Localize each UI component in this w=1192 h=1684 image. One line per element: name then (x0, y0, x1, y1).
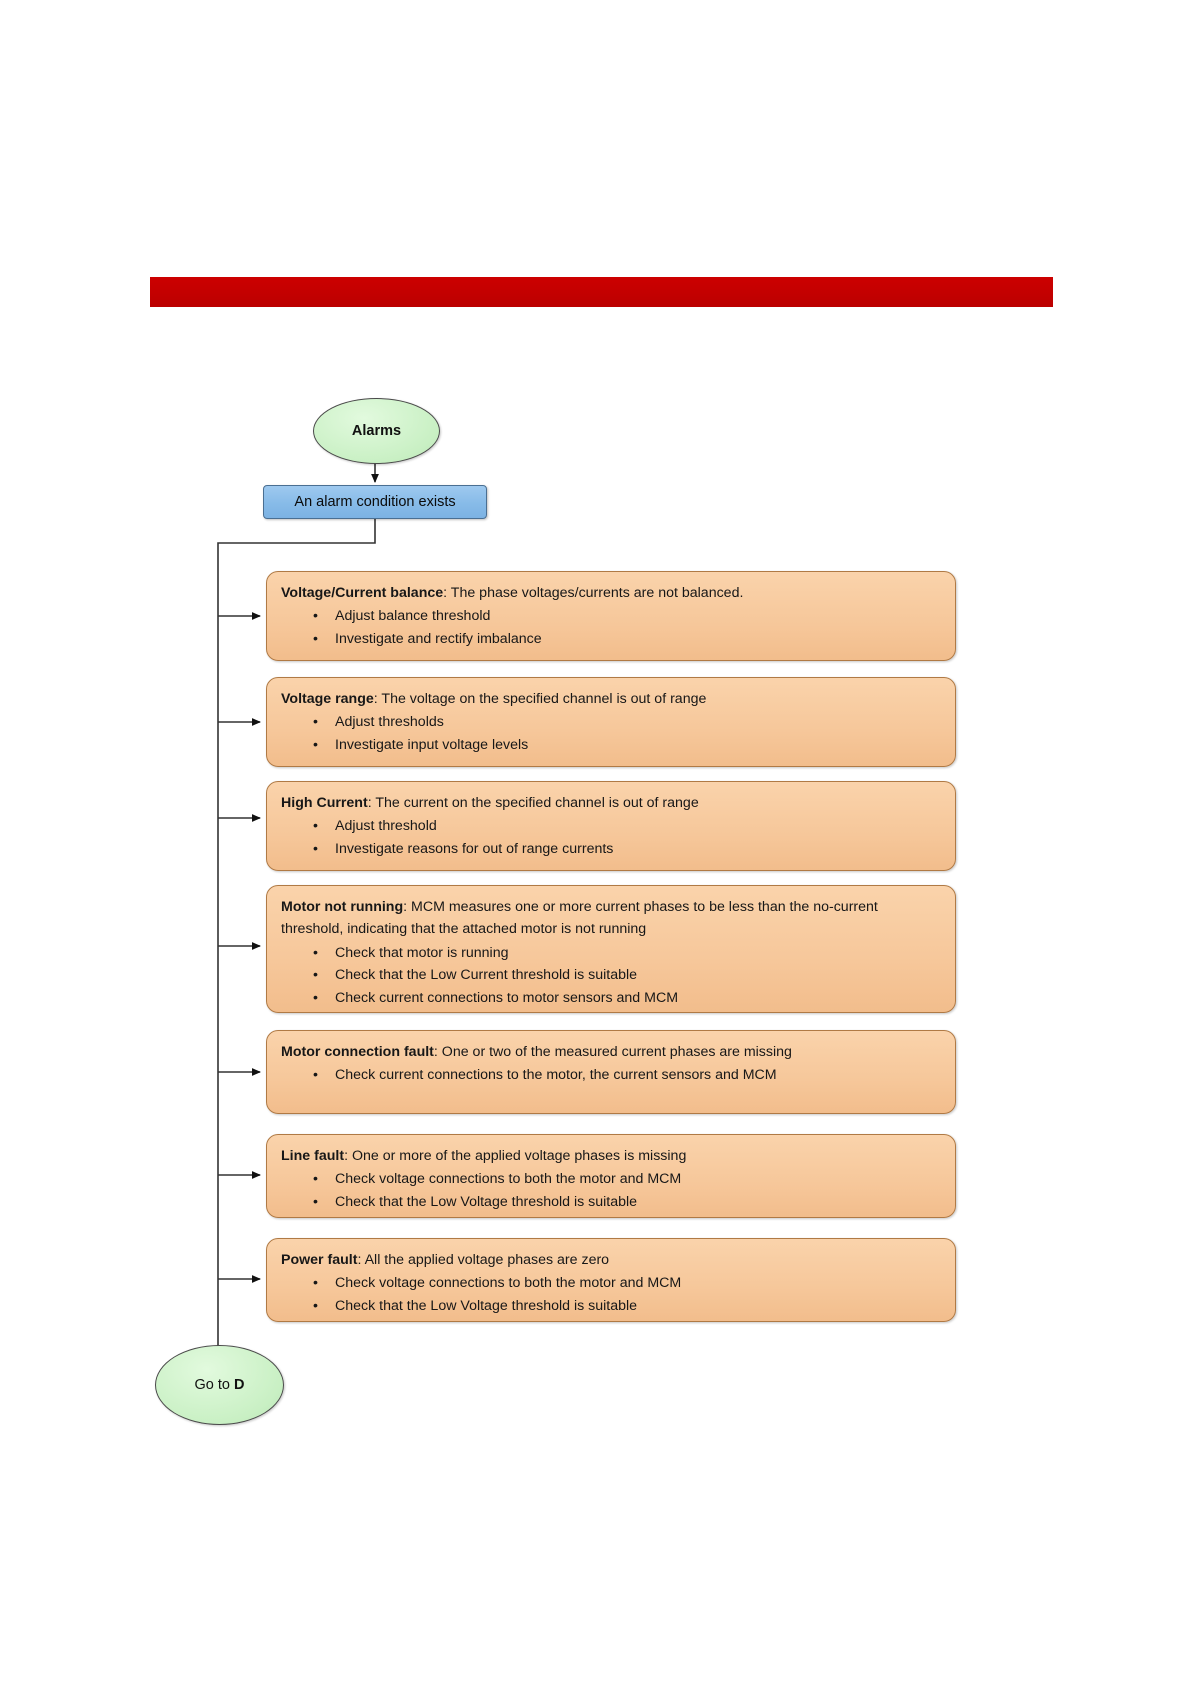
end-node-go-to-d[interactable]: Go to D (155, 1345, 284, 1425)
list-item: •Check voltage connections to both the m… (335, 1168, 941, 1190)
bullet-icon: • (313, 1295, 318, 1317)
bullet-icon: • (313, 987, 318, 1009)
list-item: •Check that the Low Voltage threshold is… (335, 1295, 941, 1317)
alarm-label: Line fault (281, 1148, 344, 1164)
alarm-separator: : (344, 1148, 352, 1164)
alarm-separator: : (357, 1252, 364, 1268)
end-node-label: Go to D (195, 1377, 245, 1393)
bullet-icon: • (313, 964, 318, 986)
alarm-description: The current on the specified channel is … (375, 795, 698, 811)
alarm-box-motor-not-running[interactable]: Motor not running: MCM measures one or m… (266, 885, 956, 1013)
alarm-bullet-list: •Check voltage connections to both the m… (281, 1168, 941, 1213)
alarm-separator: : (443, 585, 451, 601)
alarm-title-line: Power fault: All the applied voltage pha… (281, 1249, 941, 1271)
bullet-icon: • (313, 605, 318, 627)
bullet-text: Check current connections to motor senso… (335, 990, 678, 1006)
bullet-text: Investigate and rectify imbalance (335, 631, 542, 647)
bullet-icon: • (313, 815, 318, 837)
alarms-flowchart: Alarms An alarm condition exists Voltage… (0, 0, 1192, 1684)
start-node-label: Alarms (352, 423, 401, 439)
list-item: •Check that the Low Voltage threshold is… (335, 1191, 941, 1213)
bullet-text: Check that motor is running (335, 945, 509, 961)
alarm-label: Voltage range (281, 691, 374, 707)
bullet-icon: • (313, 1064, 318, 1086)
start-node-alarms[interactable]: Alarms (313, 398, 440, 464)
bullet-text: Investigate input voltage levels (335, 737, 528, 753)
bullet-text: Adjust thresholds (335, 714, 444, 730)
list-item: •Investigate input voltage levels (335, 734, 941, 756)
bullet-text: Adjust threshold (335, 818, 437, 834)
bullet-text: Check voltage connections to both the mo… (335, 1275, 681, 1291)
list-item: •Adjust thresholds (335, 711, 941, 733)
bullet-icon: • (313, 711, 318, 733)
alarm-box-line-fault[interactable]: Line fault: One or more of the applied v… (266, 1134, 956, 1218)
alarm-title-line: Voltage/Current balance: The phase volta… (281, 582, 941, 604)
alarm-bullet-list: •Adjust thresholds •Investigate input vo… (281, 711, 941, 756)
bullet-icon: • (313, 942, 318, 964)
bullet-icon: • (313, 838, 318, 860)
bullet-icon: • (313, 1191, 318, 1213)
alarm-title-line: High Current: The current on the specifi… (281, 792, 941, 814)
alarm-bullet-list: •Check current connections to the motor,… (281, 1064, 941, 1086)
condition-node-label: An alarm condition exists (294, 494, 455, 510)
end-node-prefix: Go to (195, 1377, 235, 1393)
alarm-box-motor-connection-fault[interactable]: Motor connection fault: One or two of th… (266, 1030, 956, 1114)
alarm-description: The phase voltages/currents are not bala… (451, 585, 744, 601)
list-item: •Investigate reasons for out of range cu… (335, 838, 941, 860)
alarm-bullet-list: •Check voltage connections to both the m… (281, 1272, 941, 1317)
list-item: •Check that the Low Current threshold is… (335, 964, 941, 986)
alarm-label: Motor not running (281, 899, 403, 915)
alarm-label: Power fault (281, 1252, 357, 1268)
list-item: •Adjust balance threshold (335, 605, 941, 627)
list-item: •Check that motor is running (335, 942, 941, 964)
condition-node-alarm-exists[interactable]: An alarm condition exists (263, 485, 487, 519)
list-item: •Check current connections to the motor,… (335, 1064, 941, 1086)
end-node-target: D (234, 1377, 244, 1393)
bullet-icon: • (313, 734, 318, 756)
alarm-bullet-list: •Adjust balance threshold •Investigate a… (281, 605, 941, 650)
alarm-title-line: Line fault: One or more of the applied v… (281, 1145, 941, 1167)
alarm-box-voltage-range[interactable]: Voltage range: The voltage on the specif… (266, 677, 956, 767)
alarm-bullet-list: •Adjust threshold •Investigate reasons f… (281, 815, 941, 860)
alarm-separator: : (434, 1044, 442, 1060)
alarm-description: The voltage on the specified channel is … (381, 691, 706, 707)
bullet-icon: • (313, 628, 318, 650)
alarm-description: One or two of the measured current phase… (442, 1044, 792, 1060)
list-item: •Investigate and rectify imbalance (335, 628, 941, 650)
alarm-title-line: Motor connection fault: One or two of th… (281, 1041, 941, 1063)
alarm-box-voltage-current-balance[interactable]: Voltage/Current balance: The phase volta… (266, 571, 956, 661)
alarm-separator: : (403, 899, 411, 915)
alarm-description: All the applied voltage phases are zero (365, 1252, 610, 1268)
list-item: •Adjust threshold (335, 815, 941, 837)
list-item: •Check current connections to motor sens… (335, 987, 941, 1009)
bullet-text: Check that the Low Voltage threshold is … (335, 1194, 637, 1210)
bullet-text: Check voltage connections to both the mo… (335, 1171, 681, 1187)
alarm-label: High Current (281, 795, 368, 811)
bullet-text: Check that the Low Current threshold is … (335, 967, 637, 983)
bullet-text: Investigate reasons for out of range cur… (335, 841, 613, 857)
alarm-title-line: Voltage range: The voltage on the specif… (281, 688, 941, 710)
alarm-label: Voltage/Current balance (281, 585, 443, 601)
bullet-icon: • (313, 1272, 318, 1294)
alarm-description: One or more of the applied voltage phase… (352, 1148, 686, 1164)
bullet-icon: • (313, 1168, 318, 1190)
list-item: •Check voltage connections to both the m… (335, 1272, 941, 1294)
alarm-box-high-current[interactable]: High Current: The current on the specifi… (266, 781, 956, 871)
alarm-bullet-list: •Check that motor is running •Check that… (281, 942, 941, 1009)
bullet-text: Check current connections to the motor, … (335, 1067, 777, 1083)
alarm-title-line: Motor not running: MCM measures one or m… (281, 896, 941, 941)
bullet-text: Adjust balance threshold (335, 608, 490, 624)
alarm-box-power-fault[interactable]: Power fault: All the applied voltage pha… (266, 1238, 956, 1322)
alarm-label: Motor connection fault (281, 1044, 434, 1060)
bullet-text: Check that the Low Voltage threshold is … (335, 1298, 637, 1314)
